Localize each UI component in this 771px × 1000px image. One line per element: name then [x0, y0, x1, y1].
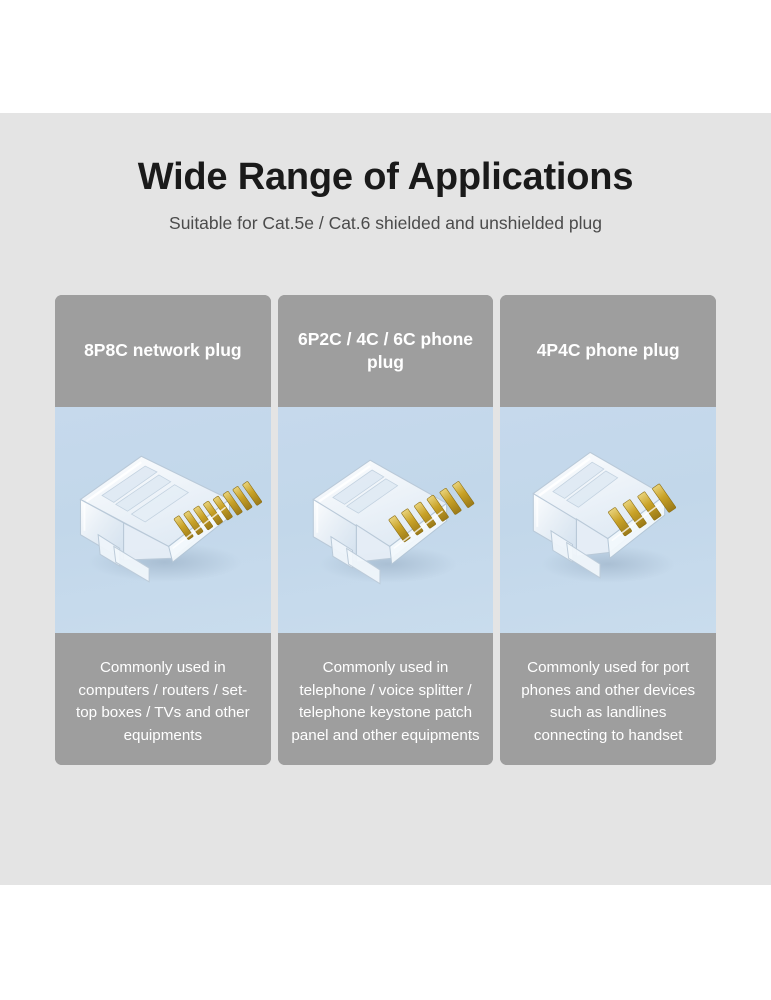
panel-inner: Wide Range of Applications Suitable for … — [55, 113, 716, 885]
rj11-plug-icon — [278, 407, 494, 633]
card-title: 8P8C network plug — [55, 295, 271, 407]
card-description: Commonly used for port phones and other … — [500, 633, 716, 765]
application-cards: 8P8C network plug — [55, 295, 716, 765]
rj9-plug-icon — [500, 407, 716, 633]
product-photo-6p2c — [278, 407, 494, 633]
application-card: 4P4C phone plug — [500, 295, 716, 765]
product-photo-8p8c — [55, 407, 271, 633]
card-title: 4P4C phone plug — [500, 295, 716, 407]
heading-block: Wide Range of Applications Suitable for … — [55, 156, 716, 234]
application-card: 6P2C / 4C / 6C phone plug — [278, 295, 494, 765]
product-photo-4p4c — [500, 407, 716, 633]
rj45-plug-icon — [55, 407, 271, 633]
card-title: 6P2C / 4C / 6C phone plug — [278, 295, 494, 407]
infographic-page: Wide Range of Applications Suitable for … — [0, 0, 771, 1000]
card-description: Commonly used in telephone / voice split… — [278, 633, 494, 765]
card-description: Commonly used in computers / routers / s… — [55, 633, 271, 765]
content-panel: Wide Range of Applications Suitable for … — [0, 113, 771, 885]
application-card: 8P8C network plug — [55, 295, 271, 765]
page-subtitle: Suitable for Cat.5e / Cat.6 shielded and… — [55, 213, 716, 234]
page-title: Wide Range of Applications — [55, 156, 716, 199]
